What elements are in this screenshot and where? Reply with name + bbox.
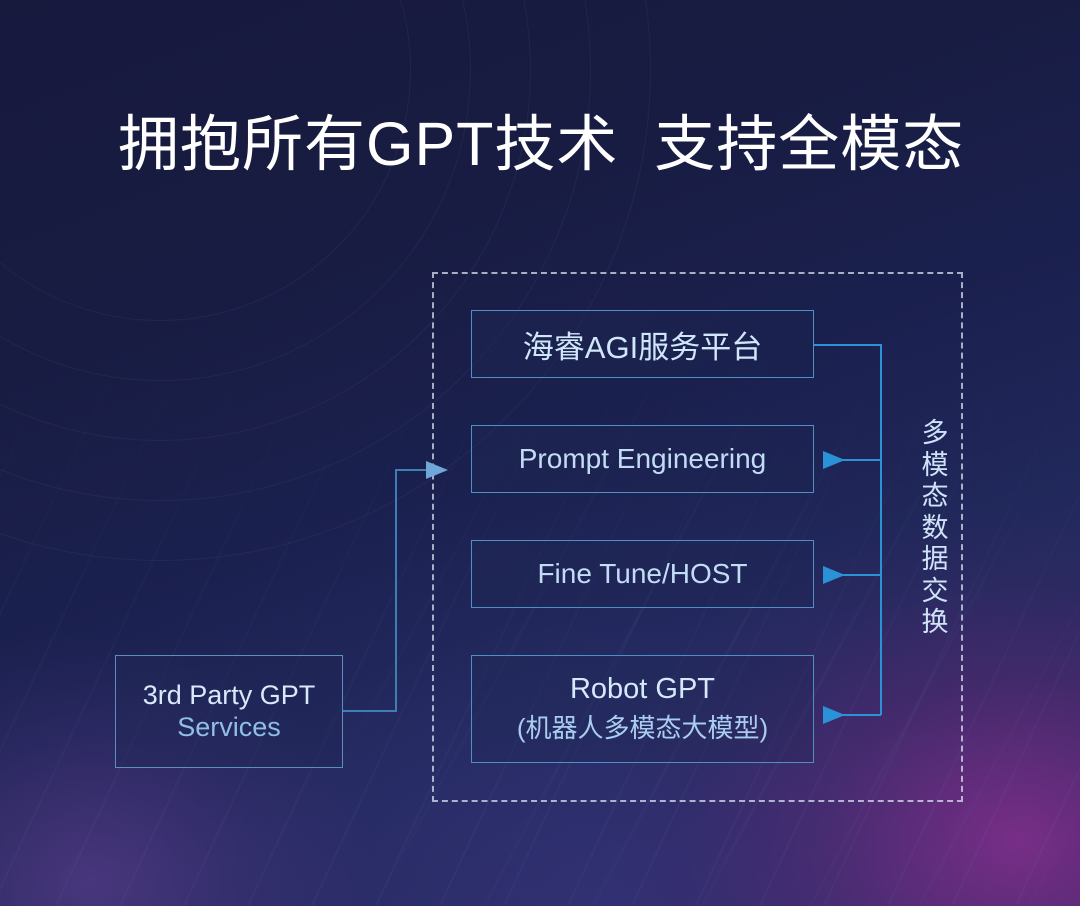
node-agi-platform-label: 海睿AGI服务平台 [523,322,762,367]
side-label-multimodal-data-exchange: 多 模 态 数 据 交 换 [915,418,955,639]
node-third-party-gpt-label: 3rd Party GPT [143,680,316,711]
side-label-char: 交 [915,576,955,608]
connector-thirdparty-to-platform [343,470,428,711]
node-robot-gpt-label: Robot GPT [570,673,715,706]
node-robot-gpt[interactable]: Robot GPT (机器人多模态大模型) [471,655,814,763]
side-label-char: 模 [915,450,955,482]
node-prompt-engineering[interactable]: Prompt Engineering [471,425,814,493]
side-label-char: 换 [915,607,955,639]
node-prompt-engineering-label: Prompt Engineering [519,443,766,475]
node-fine-tune-host[interactable]: Fine Tune/HOST [471,540,814,608]
page-title: 拥抱所有GPT技术 支持全模态 [118,109,964,179]
node-robot-gpt-sublabel: (机器人多模态大模型) [517,708,768,745]
side-label-char: 据 [915,544,955,576]
slide-canvas: 拥抱所有GPT技术 支持全模态 海睿AGI服务平台 Prompt Enginee… [0,0,1080,906]
node-fine-tune-host-label: Fine Tune/HOST [537,558,747,590]
side-label-char: 数 [915,513,955,545]
arc-ring-4 [0,0,471,381]
node-third-party-gpt-sublabel: Services [177,712,281,743]
side-label-char: 多 [915,418,955,450]
node-agi-platform[interactable]: 海睿AGI服务平台 [471,310,814,378]
side-label-char: 态 [915,481,955,513]
node-third-party-gpt-services[interactable]: 3rd Party GPT Services [115,655,343,768]
